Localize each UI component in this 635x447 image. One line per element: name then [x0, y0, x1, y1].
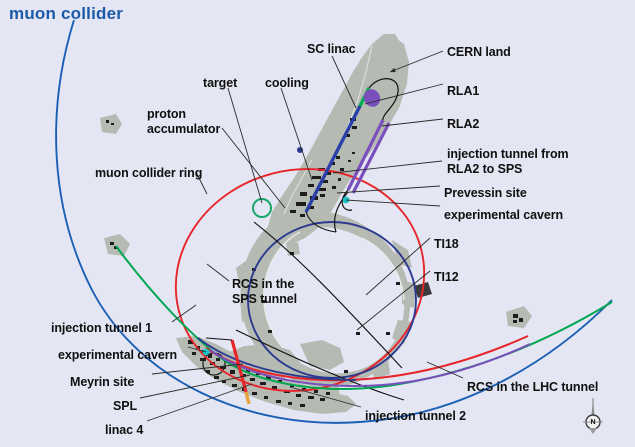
label-ti18: TI18 [434, 237, 459, 251]
label-rcs-lhc-tunnel: RCS in the LHC tunnel [467, 380, 598, 394]
leader-prevessin [337, 186, 440, 193]
label-linac-4: linac 4 [105, 423, 143, 437]
label-injection-tunnel-2: injection tunnel 2 [365, 409, 466, 423]
label-injection-tunnel-rla2-sps-1: injection tunnel from [447, 147, 569, 161]
page-title: muon collider [9, 4, 123, 24]
label-rcs-sps-tunnel-1: RCS in the [232, 277, 294, 291]
label-prevessin-site: Prevessin site [444, 186, 527, 200]
label-injection-tunnel-1: injection tunnel 1 [51, 321, 152, 335]
label-experimental-cavern-right: experimental cavern [444, 208, 563, 222]
label-cooling: cooling [265, 76, 309, 90]
leader-target [228, 88, 262, 203]
leader-cooling [281, 88, 312, 180]
muon-collider-map: muon collider SC linacCERN landtargetcoo… [0, 0, 635, 447]
leader-linac4 [147, 384, 252, 421]
injection-tunnel-1-line [206, 338, 232, 340]
leader-inj-tunnel-1 [172, 305, 196, 322]
label-experimental-cavern-left: experimental cavern [58, 348, 177, 362]
label-muon-collider-ring: muon collider ring [95, 166, 202, 180]
leader-proton-accum [222, 128, 285, 208]
label-proton-accumulator-2: accumulator [147, 122, 220, 136]
label-rcs-sps-tunnel-2: SPS tunnel [232, 292, 297, 306]
label-rla1: RLA1 [447, 84, 479, 98]
label-cern-land: CERN land [447, 45, 511, 59]
label-proton-accumulator-1: proton [147, 107, 186, 121]
label-target: target [203, 76, 237, 90]
label-spl: SPL [113, 399, 137, 413]
compass-rose-icon [583, 398, 603, 434]
label-sc-linac: SC linac [307, 42, 356, 56]
spl-green-line [116, 246, 612, 389]
label-meyrin-site: Meyrin site [70, 375, 134, 389]
label-injection-tunnel-rla2-sps-2: RLA2 to SPS [447, 162, 522, 176]
label-ti12: TI12 [434, 270, 459, 284]
leader-rcs-sps [207, 264, 229, 281]
label-rla2: RLA2 [447, 117, 479, 131]
compass-north-label: N [591, 419, 596, 426]
leader-ti12 [357, 271, 430, 330]
